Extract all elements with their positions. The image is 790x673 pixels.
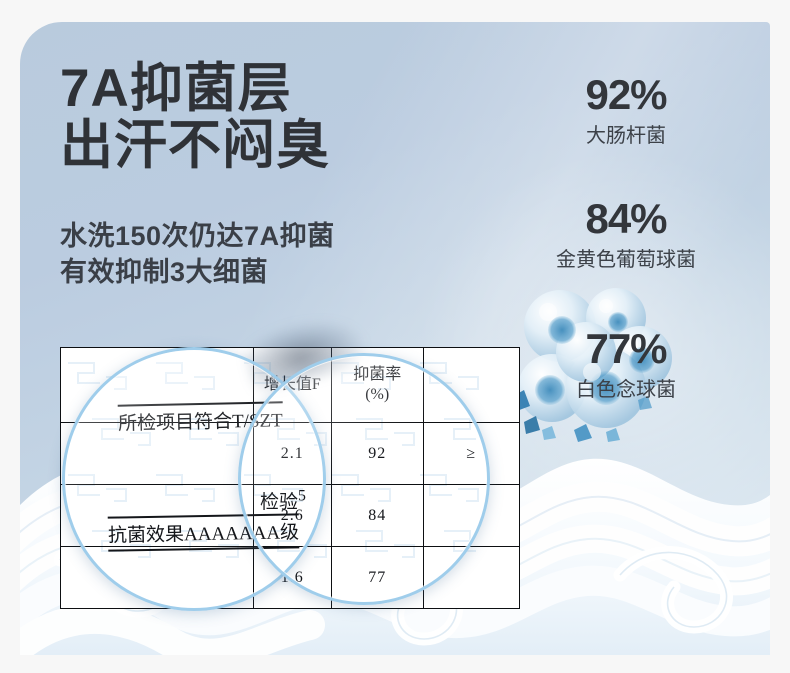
subtitle-block: 水洗150次仍达7A抑菌 有效抑制3大细菌 [60, 218, 335, 290]
stat-label: 金黄色葡萄球菌 [506, 246, 746, 274]
certificate-magnifier-group: 增长值F 抑菌率 (%) 2.1 92 ≥ 2.6 84 [20, 317, 540, 627]
stat-item: 77% 白色念球菌 [506, 326, 746, 404]
headline-line-2: 出汗不闷臭 [60, 117, 330, 174]
promo-poster: 7A抑菌层 出汗不闷臭 水洗150次仍达7A抑菌 有效抑制3大细菌 [20, 22, 770, 655]
efficacy-stats-list: 92% 大肠杆菌 84% 金黄色葡萄球菌 77% 白色念球菌 [506, 72, 746, 450]
subtitle-line-2: 有效抑制3大细菌 [60, 254, 335, 290]
lens-gloss-right [241, 356, 487, 602]
subtitle-line-1: 水洗150次仍达7A抑菌 [60, 218, 335, 254]
stat-label: 白色念球菌 [506, 376, 746, 404]
page-title: 7A抑菌层 出汗不闷臭 [60, 60, 330, 174]
stat-item: 84% 金黄色葡萄球菌 [506, 196, 746, 274]
stat-label: 大肠杆菌 [506, 122, 746, 150]
stat-item: 92% 大肠杆菌 [506, 72, 746, 150]
stat-percent: 84% [506, 196, 746, 242]
headline-line-1: 7A抑菌层 [60, 60, 330, 117]
stat-percent: 92% [506, 72, 746, 118]
magnifier-lens-right [238, 353, 490, 605]
stat-percent: 77% [506, 326, 746, 372]
